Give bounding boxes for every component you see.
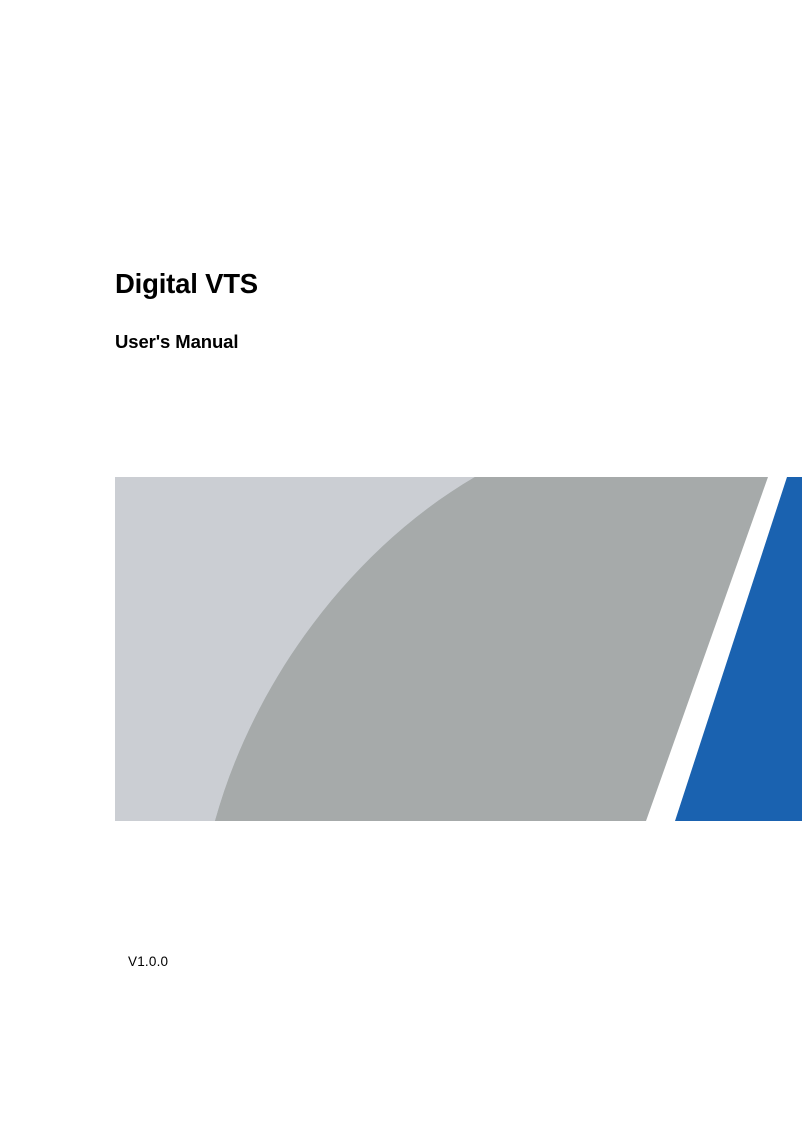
cover-banner-svg (115, 477, 802, 821)
title-block: Digital VTS User's Manual (115, 268, 755, 353)
page-title: Digital VTS (115, 268, 755, 300)
cover-banner-graphic (115, 477, 802, 821)
page-subtitle: User's Manual (115, 300, 755, 353)
version-label: V1.0.0 (128, 954, 168, 969)
document-cover-page: Digital VTS User's Manual (0, 0, 802, 1134)
